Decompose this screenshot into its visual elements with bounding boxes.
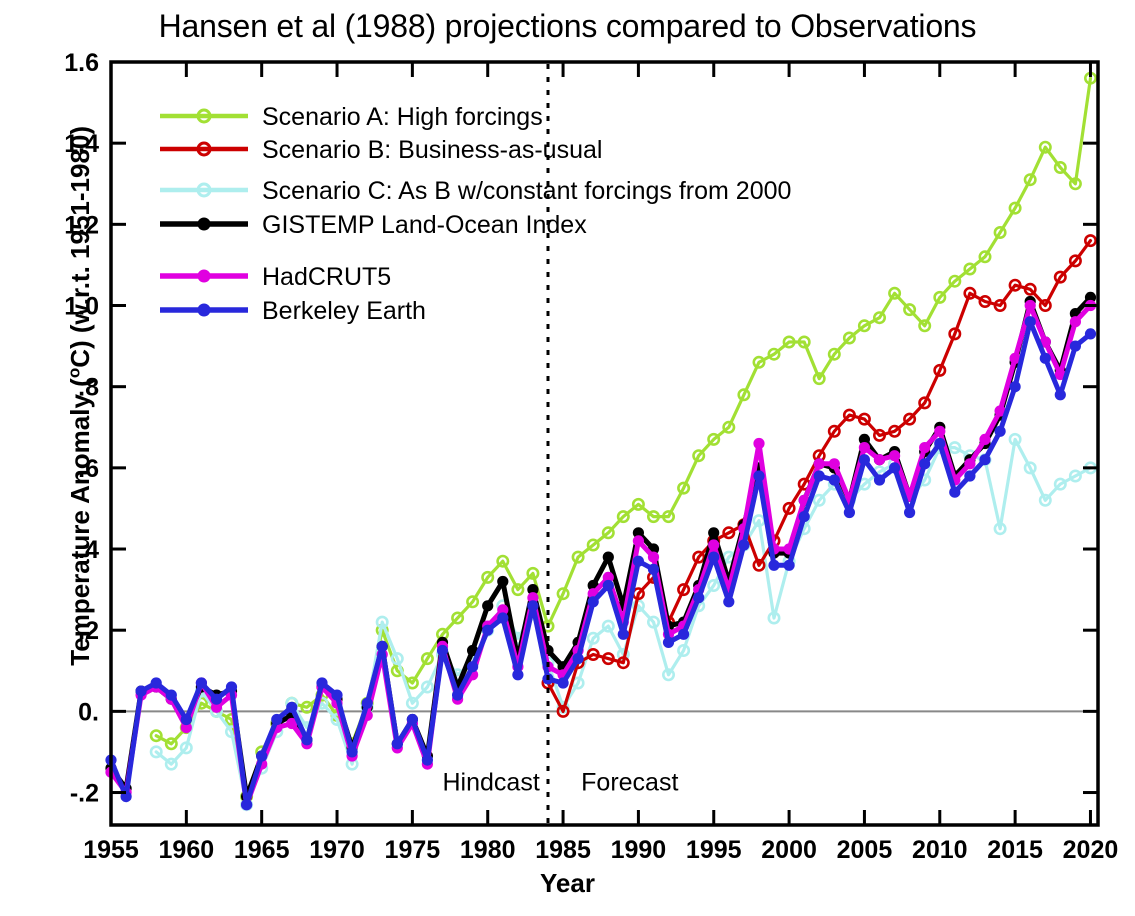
legend-item[interactable]: Berkeley Earth bbox=[160, 297, 426, 325]
chart-legend: Scenario A: High forcingsScenario B: Bus… bbox=[160, 103, 791, 325]
x-tick-labels: 1955196019651970197519801985199019952000… bbox=[83, 836, 1118, 864]
y-tick-label: .8 bbox=[78, 374, 99, 402]
data-point bbox=[1070, 316, 1081, 327]
data-point bbox=[603, 580, 614, 591]
data-point bbox=[708, 539, 719, 550]
data-point bbox=[934, 426, 945, 437]
series-gistemp-land-ocean-index bbox=[105, 292, 1096, 802]
legend-item[interactable]: HadCRUT5 bbox=[160, 263, 391, 291]
data-point bbox=[995, 426, 1006, 437]
data-point bbox=[768, 560, 779, 571]
y-tick-label: 1.0 bbox=[64, 293, 99, 321]
data-point bbox=[693, 592, 704, 603]
data-point bbox=[889, 450, 900, 461]
data-point bbox=[633, 535, 644, 546]
data-point bbox=[1070, 341, 1081, 352]
data-point bbox=[286, 702, 297, 713]
data-point bbox=[964, 470, 975, 481]
data-point bbox=[723, 596, 734, 607]
y-tick-label: .4 bbox=[78, 536, 99, 564]
data-point bbox=[226, 681, 237, 692]
data-point bbox=[392, 738, 403, 749]
data-point bbox=[829, 474, 840, 485]
x-tick-label: 2005 bbox=[837, 836, 893, 864]
legend-label: GISTEMP Land-Ocean Index bbox=[262, 211, 587, 239]
data-point bbox=[904, 507, 915, 518]
data-point bbox=[482, 600, 493, 611]
data-point bbox=[738, 539, 749, 550]
legend-label: Scenario C: As B w/constant forcings fro… bbox=[262, 177, 791, 205]
legend-label: HadCRUT5 bbox=[262, 263, 391, 291]
data-point bbox=[196, 677, 207, 688]
data-point bbox=[753, 438, 764, 449]
data-point bbox=[919, 442, 930, 453]
data-point bbox=[1010, 381, 1021, 392]
data-point bbox=[648, 552, 659, 563]
x-tick-label: 1955 bbox=[83, 836, 139, 864]
data-point bbox=[482, 625, 493, 636]
data-point bbox=[979, 434, 990, 445]
data-point bbox=[347, 746, 358, 757]
x-tick-label: 2000 bbox=[761, 836, 817, 864]
x-tick-label: 1960 bbox=[159, 836, 215, 864]
data-point bbox=[573, 653, 584, 664]
data-point bbox=[814, 470, 825, 481]
data-point bbox=[1040, 353, 1051, 364]
legend-label: Scenario B: Business-as-usual bbox=[262, 136, 602, 164]
data-point bbox=[211, 694, 222, 705]
chart-figure: Hansen et al (1988) projections compared… bbox=[0, 0, 1135, 916]
x-tick-label: 1995 bbox=[686, 836, 742, 864]
data-point bbox=[1085, 328, 1096, 339]
data-point bbox=[874, 454, 885, 465]
y-tick-labels: -.20..2.4.6.81.01.21.41.6 bbox=[64, 49, 99, 808]
data-point bbox=[331, 690, 342, 701]
data-point bbox=[799, 511, 810, 522]
y-tick-label: 1.6 bbox=[64, 49, 99, 77]
data-point bbox=[166, 690, 177, 701]
data-point bbox=[919, 458, 930, 469]
x-tick-label: 1970 bbox=[309, 836, 365, 864]
series-berkeley-earth bbox=[105, 316, 1096, 810]
annotation-label: Forecast bbox=[581, 769, 678, 797]
data-point bbox=[603, 552, 614, 563]
data-point bbox=[512, 669, 523, 680]
data-point bbox=[708, 527, 719, 538]
x-tick-label: 1990 bbox=[611, 836, 667, 864]
data-point bbox=[271, 714, 282, 725]
data-point bbox=[256, 750, 267, 761]
y-tick-label: .6 bbox=[78, 455, 99, 483]
data-point bbox=[964, 458, 975, 469]
x-tick-label: 1980 bbox=[460, 836, 516, 864]
data-point bbox=[708, 552, 719, 563]
y-tick-label: 1.4 bbox=[64, 130, 99, 158]
legend-label: Scenario A: High forcings bbox=[262, 103, 543, 131]
legend-item[interactable]: Scenario C: As B w/constant forcings fro… bbox=[160, 177, 791, 205]
data-point bbox=[558, 677, 569, 688]
data-point bbox=[648, 564, 659, 575]
x-tick-label: 1965 bbox=[234, 836, 290, 864]
x-tick-label: 2010 bbox=[912, 836, 968, 864]
data-point bbox=[979, 454, 990, 465]
data-point bbox=[784, 560, 795, 571]
series-hadcrut5 bbox=[105, 300, 1096, 810]
series-line bbox=[111, 322, 1091, 805]
data-point bbox=[1025, 316, 1036, 327]
plot-canvas: -.20..2.4.6.81.01.21.41.6 19551960196519… bbox=[0, 0, 1135, 916]
x-tick-label: 1985 bbox=[535, 836, 591, 864]
data-point bbox=[362, 698, 373, 709]
data-point bbox=[1055, 389, 1066, 400]
legend-marker bbox=[198, 304, 211, 317]
data-point bbox=[829, 458, 840, 469]
data-point bbox=[934, 438, 945, 449]
data-point bbox=[527, 600, 538, 611]
legend-marker bbox=[198, 270, 211, 283]
x-tick-label: 2020 bbox=[1063, 836, 1119, 864]
data-point bbox=[301, 734, 312, 745]
data-point bbox=[136, 686, 147, 697]
legend-item[interactable]: GISTEMP Land-Ocean Index bbox=[160, 211, 587, 239]
legend-marker bbox=[198, 218, 211, 231]
chart-annotations: HindcastForecast bbox=[443, 769, 679, 797]
data-point bbox=[316, 677, 327, 688]
y-tick-label: .2 bbox=[78, 617, 99, 645]
data-point bbox=[678, 629, 689, 640]
data-point bbox=[407, 714, 418, 725]
legend-item[interactable]: Scenario B: Business-as-usual bbox=[160, 136, 602, 164]
data-point bbox=[452, 690, 463, 701]
data-point bbox=[844, 507, 855, 518]
y-tick-label: -.2 bbox=[70, 780, 99, 808]
data-point bbox=[151, 677, 162, 688]
data-point bbox=[422, 755, 433, 766]
data-point bbox=[814, 458, 825, 469]
data-point bbox=[467, 661, 478, 672]
data-point bbox=[633, 556, 644, 567]
legend-item[interactable]: Scenario A: High forcings bbox=[160, 103, 543, 131]
data-point bbox=[497, 612, 508, 623]
data-point bbox=[663, 637, 674, 648]
data-point bbox=[437, 645, 448, 656]
data-point bbox=[753, 470, 764, 481]
data-point bbox=[618, 629, 629, 640]
data-point bbox=[1025, 300, 1036, 311]
series-line bbox=[111, 306, 1091, 805]
data-point bbox=[377, 641, 388, 652]
x-tick-label: 2015 bbox=[987, 836, 1043, 864]
data-point bbox=[241, 799, 252, 810]
y-tick-label: 1.2 bbox=[64, 211, 99, 239]
x-tick-label: 1975 bbox=[385, 836, 441, 864]
data-point bbox=[949, 487, 960, 498]
data-point bbox=[859, 442, 870, 453]
data-point bbox=[181, 714, 192, 725]
data-point bbox=[874, 474, 885, 485]
data-point bbox=[497, 576, 508, 587]
legend-label: Berkeley Earth bbox=[262, 297, 426, 325]
data-point bbox=[588, 596, 599, 607]
annotation-label: Hindcast bbox=[443, 769, 540, 797]
data-point bbox=[889, 462, 900, 473]
data-point bbox=[859, 454, 870, 465]
y-tick-label: 0. bbox=[78, 698, 99, 726]
